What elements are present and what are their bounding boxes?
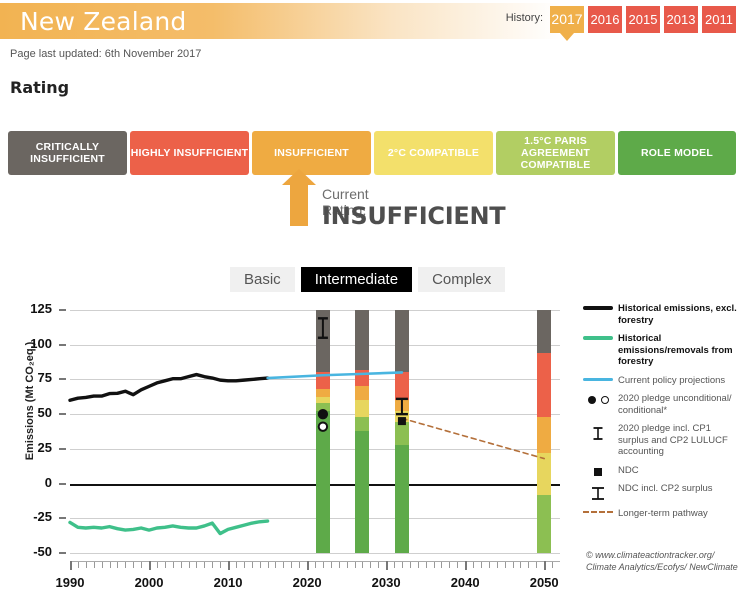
history-selector: History: 20172016201520132011 bbox=[506, 6, 736, 33]
x-minor-tick bbox=[528, 562, 529, 568]
rating-segment-label: CRITICALLY INSUFFICIENT bbox=[8, 141, 127, 165]
line-swatch bbox=[583, 306, 613, 310]
y-tick-mark bbox=[59, 309, 66, 311]
history-year-2011[interactable]: 2011 bbox=[702, 6, 736, 33]
page-title: New Zealand bbox=[20, 7, 186, 36]
y-tick-mark bbox=[59, 517, 66, 519]
circle-pair-wrap bbox=[588, 396, 609, 404]
rating-segment-label: 1.5°C PARIS AGREEMENT COMPATIBLE bbox=[496, 135, 615, 171]
x-minor-tick bbox=[220, 562, 221, 568]
x-minor-tick bbox=[481, 562, 482, 568]
marker-error-bar-wide bbox=[396, 399, 408, 414]
history-year-label: 2015 bbox=[629, 12, 658, 27]
y-tick-mark bbox=[59, 448, 66, 450]
rating-segment-label: HIGHLY INSUFFICIENT bbox=[131, 147, 249, 159]
x-minor-tick bbox=[189, 562, 190, 568]
x-minor-tick bbox=[196, 562, 197, 568]
x-minor-tick bbox=[323, 562, 324, 568]
x-tick-label-2000: 2000 bbox=[135, 575, 164, 590]
x-tick-label-2050: 2050 bbox=[530, 575, 559, 590]
x-minor-tick bbox=[497, 562, 498, 568]
x-minor-tick bbox=[173, 562, 174, 568]
x-major-tick bbox=[149, 561, 151, 570]
history-label: History: bbox=[506, 6, 543, 24]
y-tick-mark bbox=[59, 413, 66, 415]
x-minor-tick bbox=[347, 562, 348, 568]
x-minor-tick bbox=[520, 562, 521, 568]
x-major-tick bbox=[307, 561, 309, 570]
legend-item-1[interactable]: Historical emissions/removals from fores… bbox=[578, 333, 744, 368]
x-minor-tick bbox=[299, 562, 300, 568]
history-year-2017[interactable]: 2017 bbox=[550, 6, 584, 33]
rating-segment-4[interactable]: 1.5°C PARIS AGREEMENT COMPATIBLE bbox=[496, 131, 615, 175]
plot-area: 1251007550250-25-50 bbox=[70, 310, 560, 553]
x-minor-tick bbox=[552, 562, 553, 568]
x-minor-tick bbox=[355, 562, 356, 568]
line-blue-icon bbox=[578, 375, 618, 381]
x-minor-tick bbox=[331, 562, 332, 568]
y-tick-label-100: 100 bbox=[0, 336, 52, 351]
x-minor-tick bbox=[378, 562, 379, 568]
x-minor-tick bbox=[236, 562, 237, 568]
history-button-group: 20172016201520132011 bbox=[550, 6, 736, 33]
chart-legend: Historical emissions, excl. forestryHist… bbox=[578, 303, 744, 527]
y-tick-mark bbox=[59, 378, 66, 380]
history-year-2016[interactable]: 2016 bbox=[588, 6, 622, 33]
x-tick-label-2030: 2030 bbox=[372, 575, 401, 590]
history-year-2015[interactable]: 2015 bbox=[626, 6, 660, 33]
x-minor-tick bbox=[94, 562, 95, 568]
x-minor-tick bbox=[78, 562, 79, 568]
legend-label: 2020 pledge unconditional/ conditional* bbox=[618, 393, 744, 416]
y-tick-mark bbox=[59, 483, 66, 485]
legend-label: 2020 pledge incl. CP1 surplus and CP2 LU… bbox=[618, 423, 744, 458]
x-minor-tick bbox=[457, 562, 458, 568]
history-year-label: 2017 bbox=[551, 11, 582, 27]
y-tick-label-0: 0 bbox=[0, 475, 52, 490]
legend-item-7[interactable]: Longer-term pathway bbox=[578, 508, 744, 520]
x-minor-tick bbox=[418, 562, 419, 568]
legend-label: Historical emissions/removals from fores… bbox=[618, 333, 744, 368]
x-major-tick bbox=[544, 561, 546, 570]
y-tick-label-25: 25 bbox=[0, 440, 52, 455]
x-minor-tick bbox=[441, 562, 442, 568]
x-minor-tick bbox=[110, 562, 111, 568]
x-minor-tick bbox=[244, 562, 245, 568]
rating-segment-0[interactable]: CRITICALLY INSUFFICIENT bbox=[8, 131, 127, 175]
page-updated-text: Page last updated: 6th November 2017 bbox=[10, 48, 201, 60]
x-minor-tick bbox=[402, 562, 403, 568]
filled-square-icon bbox=[594, 468, 602, 476]
tab-complex[interactable]: Complex bbox=[418, 267, 505, 292]
x-minor-tick bbox=[505, 562, 506, 568]
y-tick-mark bbox=[59, 344, 66, 346]
rating-segment-label: ROLE MODEL bbox=[641, 147, 713, 159]
x-minor-tick bbox=[212, 562, 213, 568]
y-tick-label-50: 50 bbox=[0, 405, 52, 420]
x-minor-tick bbox=[473, 562, 474, 568]
current-rating-value: INSUFFICIENT bbox=[322, 202, 505, 230]
history-year-label: 2016 bbox=[591, 12, 620, 27]
rating-segment-label: INSUFFICIENT bbox=[274, 147, 349, 159]
tab-intermediate[interactable]: Intermediate bbox=[301, 267, 412, 292]
x-minor-tick bbox=[291, 562, 292, 568]
square-icon bbox=[578, 465, 618, 476]
filled-circle-icon bbox=[588, 396, 596, 404]
line-thick-black-icon bbox=[578, 303, 618, 310]
y-tick-label--50: -50 bbox=[0, 544, 52, 559]
marker-filled-circle bbox=[319, 410, 327, 418]
x-minor-tick bbox=[513, 562, 514, 568]
x-minor-tick bbox=[370, 562, 371, 568]
legend-label: Historical emissions, excl. forestry bbox=[618, 303, 744, 326]
x-tick-label-1990: 1990 bbox=[56, 575, 85, 590]
x-minor-tick bbox=[426, 562, 427, 568]
x-tick-label-2020: 2020 bbox=[293, 575, 322, 590]
rating-heading: Rating bbox=[10, 78, 69, 97]
line-thick-green-icon bbox=[578, 333, 618, 340]
dashed-line-icon bbox=[578, 508, 618, 513]
legend-item-5[interactable]: NDC bbox=[578, 465, 744, 477]
x-minor-tick bbox=[315, 562, 316, 568]
x-minor-tick bbox=[252, 562, 253, 568]
x-minor-tick bbox=[260, 562, 261, 568]
x-minor-tick bbox=[283, 562, 284, 568]
x-minor-tick bbox=[117, 562, 118, 568]
history-year-2013[interactable]: 2013 bbox=[664, 6, 698, 33]
line-swatch bbox=[583, 378, 613, 381]
rating-segment-label: 2°C COMPATIBLE bbox=[388, 147, 479, 159]
x-minor-tick bbox=[133, 562, 134, 568]
marker-filled-square bbox=[398, 417, 406, 425]
x-minor-tick bbox=[410, 562, 411, 568]
x-minor-tick bbox=[86, 562, 87, 568]
x-minor-tick bbox=[268, 562, 269, 568]
y-tick-mark bbox=[59, 552, 66, 554]
x-minor-tick bbox=[125, 562, 126, 568]
x-tick-label-2040: 2040 bbox=[451, 575, 480, 590]
error-bar-icon bbox=[590, 486, 606, 501]
x-minor-tick bbox=[275, 562, 276, 568]
rating-segment-5[interactable]: ROLE MODEL bbox=[618, 131, 736, 175]
marker-error-bar bbox=[318, 318, 328, 337]
x-minor-tick bbox=[449, 562, 450, 568]
x-minor-tick bbox=[394, 562, 395, 568]
x-axis: 1990200020102020203020402050 bbox=[70, 561, 560, 562]
y-tick-label-75: 75 bbox=[0, 370, 52, 385]
dashed-swatch bbox=[583, 511, 613, 513]
tab-basic[interactable]: Basic bbox=[230, 267, 295, 292]
marker-layer bbox=[70, 310, 560, 553]
x-minor-tick bbox=[204, 562, 205, 568]
x-major-tick bbox=[465, 561, 467, 570]
legend-item-3[interactable]: 2020 pledge unconditional/ conditional* bbox=[578, 393, 744, 416]
x-minor-tick bbox=[536, 562, 537, 568]
legend-label: NDC bbox=[618, 465, 639, 477]
x-minor-tick bbox=[339, 562, 340, 568]
x-minor-tick bbox=[434, 562, 435, 568]
legend-item-2[interactable]: Current policy projections bbox=[578, 375, 744, 387]
x-major-tick bbox=[386, 561, 388, 570]
chart-credit: © www.climateactiontracker.org/ Climate … bbox=[586, 550, 744, 573]
error-bar-icon bbox=[578, 423, 618, 441]
history-year-label: 2011 bbox=[705, 12, 733, 27]
emissions-chart: Emissions (Mt CO₂eq.) 1251007550250-25-5… bbox=[0, 295, 744, 613]
legend-item-4[interactable]: 2020 pledge incl. CP1 surplus and CP2 LU… bbox=[578, 423, 744, 458]
up-arrow-icon bbox=[290, 184, 308, 226]
x-minor-tick bbox=[165, 562, 166, 568]
gridline--50 bbox=[70, 553, 560, 554]
x-minor-tick bbox=[489, 562, 490, 568]
rating-segment-1[interactable]: HIGHLY INSUFFICIENT bbox=[130, 131, 249, 175]
x-minor-tick bbox=[141, 562, 142, 568]
rating-scale: CRITICALLY INSUFFICIENTHIGHLY INSUFFICIE… bbox=[8, 131, 736, 175]
rating-segment-3[interactable]: 2°C COMPATIBLE bbox=[374, 131, 493, 175]
circle-pair-icon bbox=[578, 393, 618, 404]
x-minor-tick bbox=[362, 562, 363, 568]
legend-item-6[interactable]: NDC incl. CP2 surplus bbox=[578, 483, 744, 501]
y-tick-label--25: -25 bbox=[0, 509, 52, 524]
y-tick-label-125: 125 bbox=[0, 301, 52, 316]
legend-item-0[interactable]: Historical emissions, excl. forestry bbox=[578, 303, 744, 326]
x-major-tick bbox=[228, 561, 230, 570]
x-minor-tick bbox=[157, 562, 158, 568]
x-minor-tick bbox=[181, 562, 182, 568]
error-bar-icon bbox=[590, 426, 606, 441]
history-year-label: 2013 bbox=[667, 12, 696, 27]
x-major-tick bbox=[70, 561, 72, 570]
legend-label: Longer-term pathway bbox=[618, 508, 708, 520]
line-swatch bbox=[583, 336, 613, 340]
error-bar-wide-icon bbox=[578, 483, 618, 501]
x-tick-label-2010: 2010 bbox=[214, 575, 243, 590]
open-circle-icon bbox=[601, 396, 609, 404]
legend-label: Current policy projections bbox=[618, 375, 725, 387]
x-minor-tick bbox=[102, 562, 103, 568]
marker-open-circle bbox=[319, 422, 327, 430]
chart-detail-tabs: BasicIntermediateComplex bbox=[230, 267, 505, 292]
legend-label: NDC incl. CP2 surplus bbox=[618, 483, 713, 495]
